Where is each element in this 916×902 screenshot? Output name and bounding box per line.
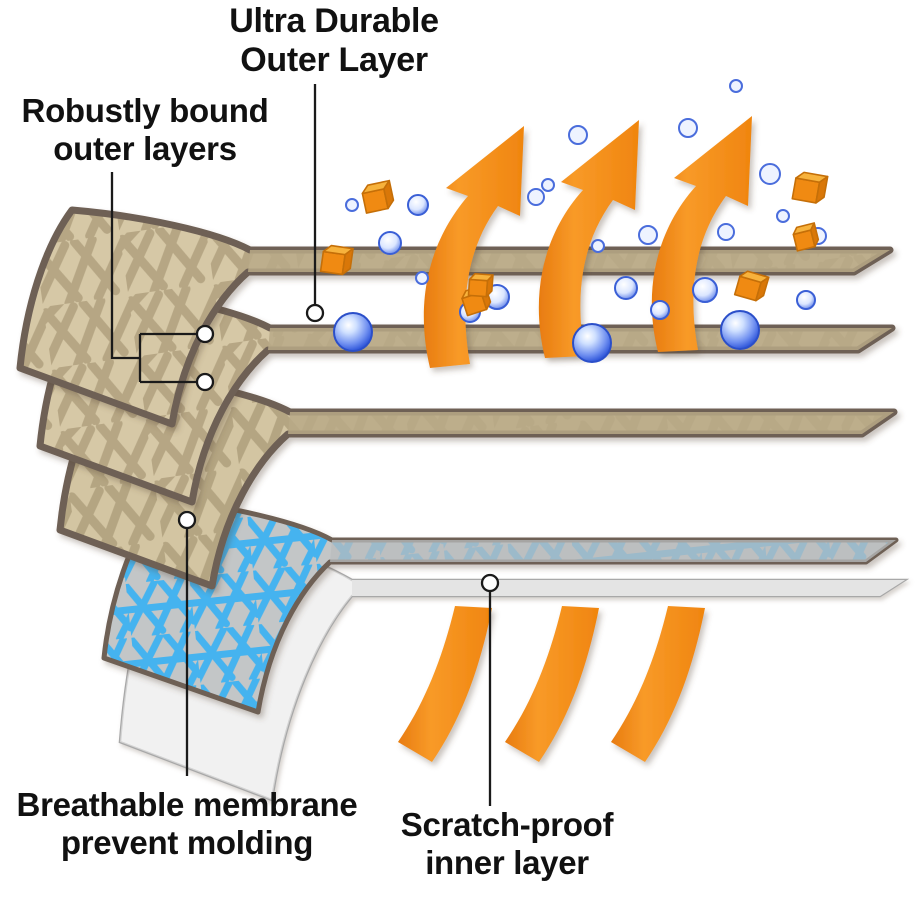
airflow-arrows-lower xyxy=(398,606,705,762)
diagram-canvas: Ultra Durable Outer Layer Robustly bound… xyxy=(0,0,916,902)
label-breathable-membrane: Breathable membrane prevent molding xyxy=(2,786,372,863)
label-ultra-durable-outer-layer: Ultra Durable Outer Layer xyxy=(200,2,468,81)
label-scratch-proof-inner-layer: Scratch-proof inner layer xyxy=(372,806,642,883)
label-robustly-bound-outer-layers: Robustly bound outer layers xyxy=(4,92,286,169)
ultra-durable-leader xyxy=(307,84,323,321)
